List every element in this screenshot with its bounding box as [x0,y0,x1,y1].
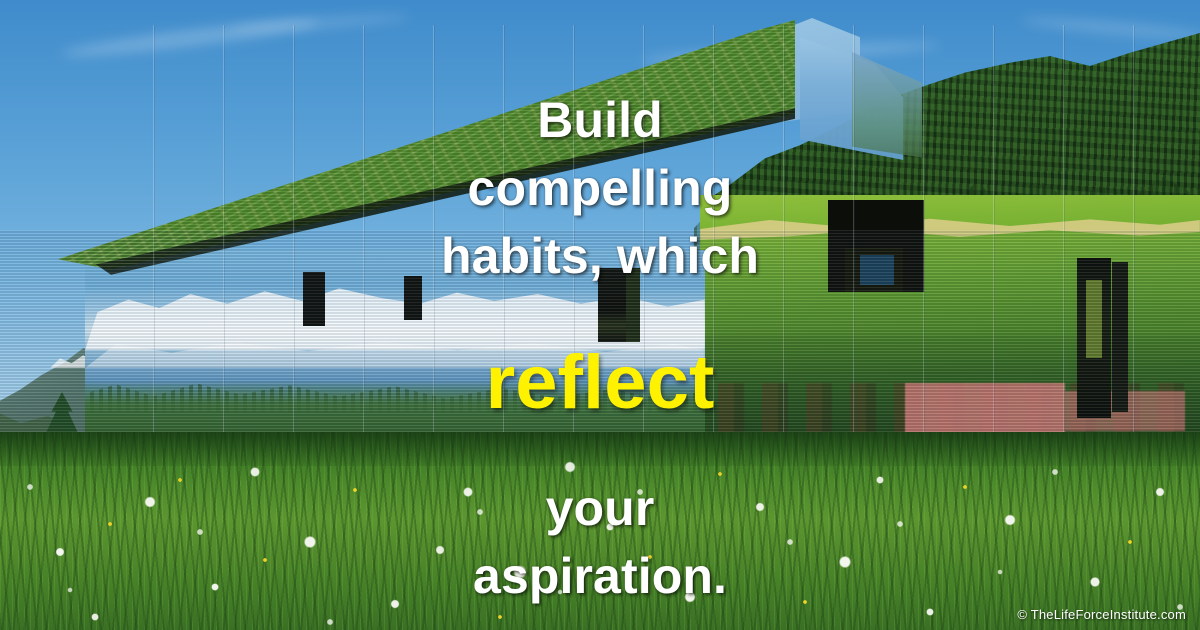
reflected-pink-building [905,383,1065,435]
window-aperture [626,268,640,342]
copyright-credit: © TheLifeForceInstitute.com [1017,607,1186,622]
foreground-meadow [0,432,1200,630]
window-aperture [404,276,422,320]
window-aperture [860,255,894,285]
reflected-path [700,211,1200,241]
window-aperture [1086,280,1102,358]
window-aperture [1112,262,1128,412]
quote-card: Build compelling habits, which reflect y… [0,0,1200,630]
mirrored-house [0,0,1200,470]
mirror-roof-shade [852,52,922,162]
dandelion-field-secondary [0,432,1200,630]
window-aperture [303,272,325,326]
